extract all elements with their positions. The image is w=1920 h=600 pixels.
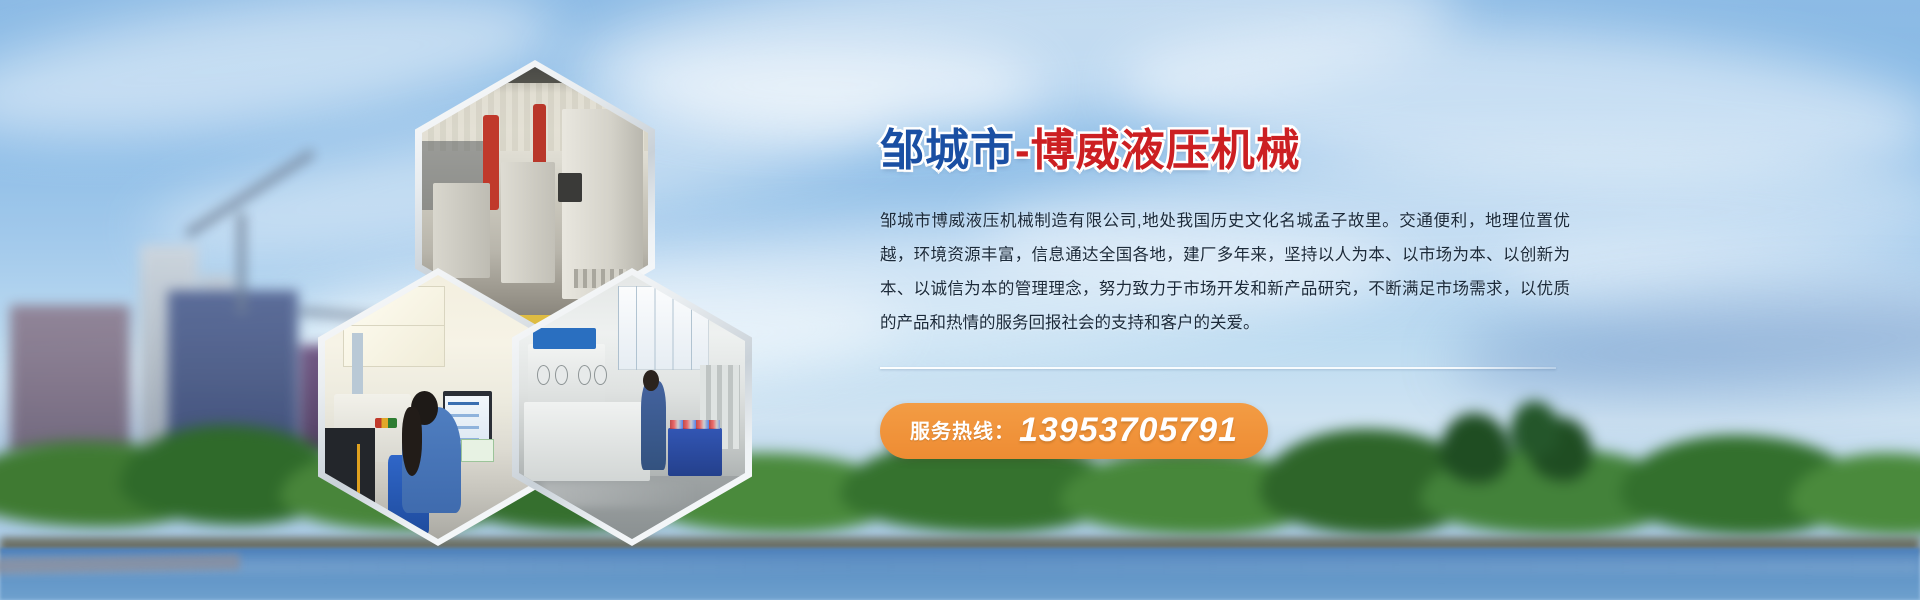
- hexagon-photo-gallery: [380, 60, 800, 540]
- title-segment-city: 邹城市: [880, 126, 1015, 175]
- page-title: 邹城市-博威液压机械: [880, 126, 1580, 177]
- company-banner: 邹城市-博威液压机械 邹城市博威液压机械制造有限公司,地处我国历史文化名城孟子故…: [0, 0, 1920, 600]
- title-segment-company: -博威液压机械: [1015, 126, 1301, 175]
- company-description: 邹城市博威液压机械制造有限公司,地处我国历史文化名城孟子故里。交通便利，地理位置…: [880, 205, 1570, 341]
- hotline-number[interactable]: 13953705791: [1019, 413, 1238, 447]
- hotline-label: 服务热线：: [910, 415, 1015, 444]
- banner-content: 邹城市-博威液压机械 邹城市博威液压机械制造有限公司,地处我国历史文化名城孟子故…: [880, 126, 1580, 459]
- hydraulic-test-bench-photo: [519, 275, 745, 539]
- hotline-badge[interactable]: 服务热线： 13953705791: [880, 403, 1268, 459]
- section-divider: [880, 367, 1556, 369]
